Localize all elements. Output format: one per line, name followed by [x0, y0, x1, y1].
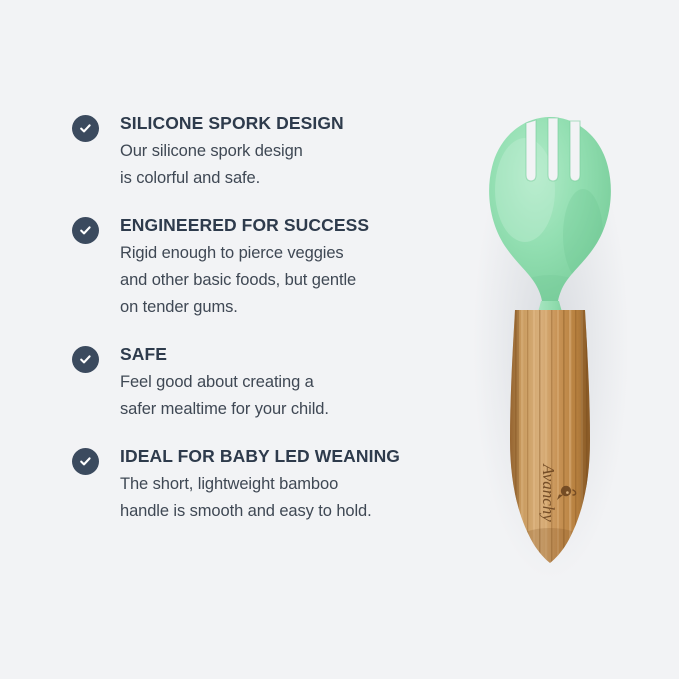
feature-body-line: handle is smooth and easy to hold. — [120, 498, 462, 525]
feature-heading: SAFE — [120, 343, 462, 366]
product-image-spork: Avanchy — [455, 95, 645, 595]
feature-body: Feel good about creating a safer mealtim… — [120, 369, 462, 423]
feature-body-line: and other basic foods, but gentle — [120, 267, 462, 294]
infographic-canvas: SILICONE SPORK DESIGN Our silicone spork… — [0, 0, 679, 679]
brand-wordmark: Avanchy — [539, 463, 558, 522]
check-circle-icon — [72, 346, 99, 373]
feature-list: SILICONE SPORK DESIGN Our silicone spork… — [72, 112, 462, 547]
feature-item-engineered-for-success: ENGINEERED FOR SUCCESS Rigid enough to p… — [72, 214, 462, 321]
feature-body-line: on tender gums. — [120, 294, 462, 321]
feature-item-ideal-for-baby-led-weaning: IDEAL FOR BABY LED WEANING The short, li… — [72, 445, 462, 525]
check-circle-icon — [72, 448, 99, 475]
feature-body: The short, lightweight bamboo handle is … — [120, 471, 462, 525]
feature-body-line: Our silicone spork design — [120, 138, 462, 165]
feature-body-line: is colorful and safe. — [120, 165, 462, 192]
feature-item-safe: SAFE Feel good about creating a safer me… — [72, 343, 462, 423]
feature-body: Rigid enough to pierce veggies and other… — [120, 240, 462, 321]
feature-body-line: Rigid enough to pierce veggies — [120, 240, 462, 267]
spork-tine-slots — [526, 118, 580, 181]
check-circle-icon — [72, 115, 99, 142]
feature-body-line: Feel good about creating a — [120, 369, 462, 396]
feature-heading: IDEAL FOR BABY LED WEANING — [120, 445, 462, 468]
feature-body: Our silicone spork design is colorful an… — [120, 138, 462, 192]
feature-item-silicone-spork-design: SILICONE SPORK DESIGN Our silicone spork… — [72, 112, 462, 192]
check-circle-icon — [72, 217, 99, 244]
feature-body-line: safer mealtime for your child. — [120, 396, 462, 423]
feature-heading: SILICONE SPORK DESIGN — [120, 112, 462, 135]
feature-body-line: The short, lightweight bamboo — [120, 471, 462, 498]
feature-heading: ENGINEERED FOR SUCCESS — [120, 214, 462, 237]
